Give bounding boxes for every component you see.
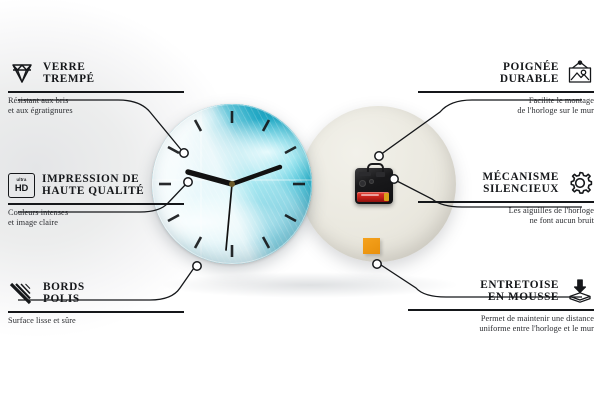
- feature-title: POIGNÉE DURABLE: [500, 61, 559, 86]
- battery-terminal: [384, 193, 389, 201]
- infographic-stage: VERRE TREMPÉ Résistant aux bris et aux é…: [0, 0, 600, 400]
- feature-header: POIGNÉE DURABLE: [418, 58, 594, 88]
- feature-title: BORDS POLIS: [43, 281, 85, 306]
- picture-hanger-icon: [566, 60, 594, 86]
- press-foam-icon: [566, 278, 594, 304]
- feature-header: ultra HD IMPRESSION DE HAUTE QUALITÉ: [8, 170, 184, 200]
- feature-header: ENTRETOISE EN MOUSSE: [408, 276, 594, 306]
- hanger-tab: [367, 163, 384, 172]
- feature-description: Les aiguilles de l'horloge ne font aucun…: [418, 206, 594, 226]
- feature-divider: [8, 311, 184, 313]
- ultra-hd-icon-main-label: HD: [15, 183, 28, 192]
- feature-description: Permet de maintenir une distance uniform…: [408, 314, 594, 334]
- feature-title: ENTRETOISE EN MOUSSE: [480, 279, 559, 304]
- feature-header: BORDS POLIS: [8, 278, 184, 308]
- feature-description: Surface lisse et sûre: [8, 316, 184, 326]
- feature-foam-spacer[interactable]: ENTRETOISE EN MOUSSE Permet de maintenir…: [408, 276, 594, 334]
- feature-description: Résistant aux bris et aux égratignures: [8, 96, 184, 116]
- feature-description: Couleurs intenses et image claire: [8, 208, 184, 228]
- feature-divider: [418, 91, 594, 93]
- battery-label-stripe: [361, 194, 379, 196]
- polished-edges-icon: [8, 280, 36, 306]
- battery: [357, 192, 389, 202]
- foam-spacer-pad: [363, 238, 380, 254]
- mechanism-dial-two: [369, 179, 374, 184]
- feature-divider: [408, 309, 594, 311]
- gear-icon: [566, 170, 594, 196]
- feature-durable-handle[interactable]: POIGNÉE DURABLE Facilite le montage de l…: [418, 58, 594, 116]
- feature-header: MÉCANISME SILENCIEUX: [418, 168, 594, 198]
- feature-polished-edges[interactable]: BORDS POLIS Surface lisse et sûre: [8, 278, 184, 326]
- mechanism-slot-right: [376, 172, 385, 177]
- ultra-hd-icon: ultra HD: [8, 173, 35, 198]
- feature-title: MÉCANISME SILENCIEUX: [483, 171, 560, 196]
- feature-print-quality[interactable]: ultra HD IMPRESSION DE HAUTE QUALITÉ Cou…: [8, 170, 184, 228]
- feature-title: VERRE TREMPÉ: [43, 61, 95, 86]
- feature-divider: [418, 201, 594, 203]
- feature-divider: [8, 203, 184, 205]
- clock-mechanism: [355, 168, 393, 204]
- feature-description: Facilite le montage de l'horloge sur le …: [418, 96, 594, 116]
- feature-tempered-glass[interactable]: VERRE TREMPÉ Résistant aux bris et aux é…: [8, 58, 184, 116]
- diamond-icon: [8, 60, 36, 86]
- feature-divider: [8, 91, 184, 93]
- mechanism-dial-one: [359, 180, 366, 187]
- mechanism-slot-left: [359, 172, 371, 176]
- feature-header: VERRE TREMPÉ: [8, 58, 184, 88]
- feature-silent-mechanism[interactable]: MÉCANISME SILENCIEUX Les aiguilles de l'…: [418, 168, 594, 226]
- feature-title: IMPRESSION DE HAUTE QUALITÉ: [42, 173, 144, 198]
